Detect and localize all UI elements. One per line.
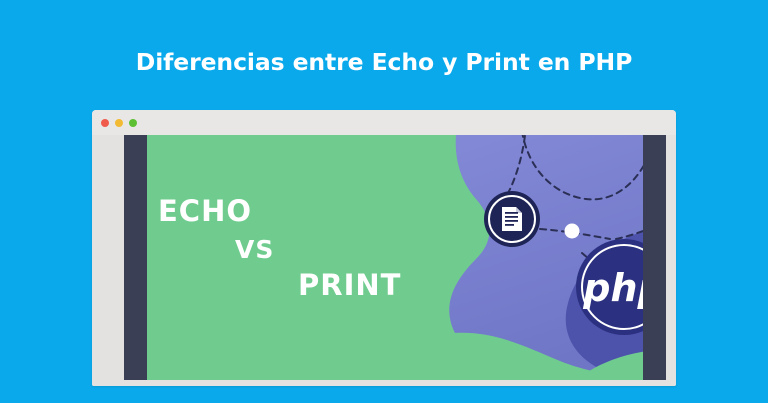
illustration-svg: php — [124, 135, 666, 380]
document-badge — [484, 191, 540, 247]
node-dot-1 — [565, 224, 580, 239]
maximize-button-dot[interactable] — [129, 119, 137, 127]
label-print: PRINT — [298, 268, 401, 302]
page-title: Diferencias entre Echo y Print en PHP — [0, 48, 768, 76]
browser-frame-bottom — [92, 380, 676, 386]
label-echo: ECHO — [158, 194, 252, 228]
illustration-viewport: php — [124, 135, 666, 380]
minimize-button-dot[interactable] — [115, 119, 123, 127]
document-icon — [502, 207, 522, 231]
traffic-light-group — [101, 119, 137, 127]
browser-titlebar — [92, 110, 676, 135]
page-root: Diferencias entre Echo y Print en PHP — [0, 0, 768, 403]
label-vs: VS — [235, 235, 274, 264]
viewport-rail-left — [124, 135, 147, 380]
viewport-rail-right — [643, 135, 666, 380]
close-button-dot[interactable] — [101, 119, 109, 127]
browser-window-mock: php — [92, 110, 676, 386]
